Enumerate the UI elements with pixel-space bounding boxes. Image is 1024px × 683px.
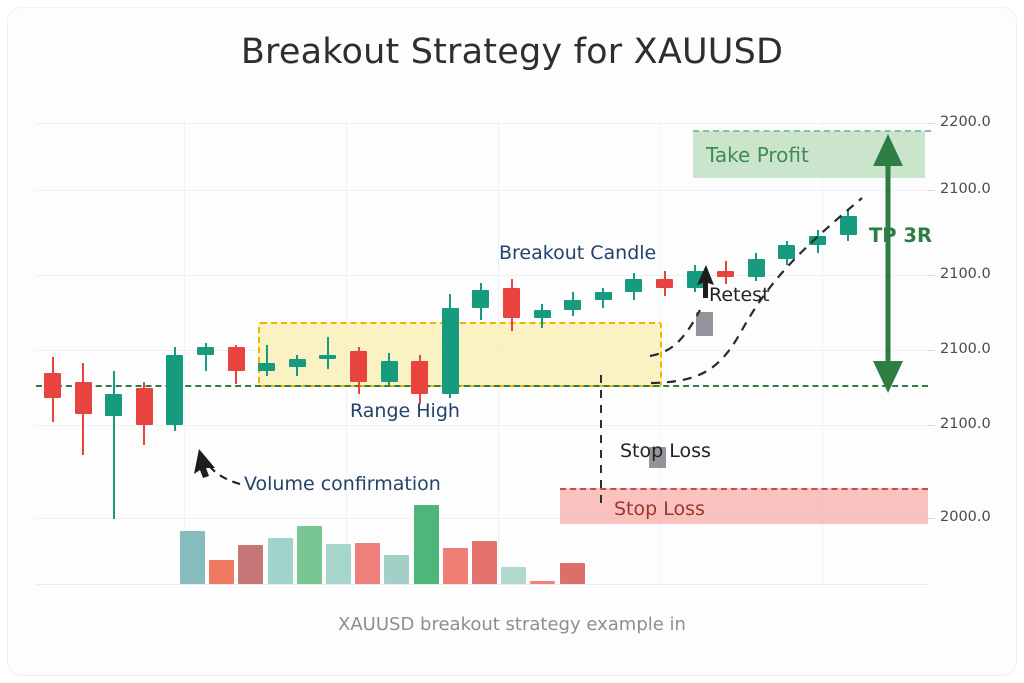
volume-bar xyxy=(180,531,205,584)
volume-bar xyxy=(209,560,234,584)
candle-body-neutral xyxy=(696,312,713,336)
volume-bar xyxy=(268,538,293,584)
candle-body xyxy=(717,271,734,277)
y-axis-tick xyxy=(928,123,935,124)
volume-bar xyxy=(297,526,322,584)
candle-body xyxy=(595,292,612,300)
candle-wick xyxy=(327,337,329,368)
candle-body xyxy=(656,279,673,289)
retest-label: Retest xyxy=(709,284,770,306)
candle-body xyxy=(75,382,92,413)
candle-body xyxy=(289,359,306,367)
y-axis-label: 2100.0 xyxy=(940,341,991,357)
gridline xyxy=(36,425,928,426)
volume-bar xyxy=(443,548,468,584)
volume-bar xyxy=(238,545,263,584)
candle-body xyxy=(381,361,398,383)
y-axis-tick xyxy=(928,350,935,351)
tp-3r-label: TP 3R xyxy=(869,224,932,247)
candle-body xyxy=(687,271,704,289)
candle-body xyxy=(778,245,795,259)
y-axis-label: 2200.0 xyxy=(940,114,991,130)
range-high-label: Range High xyxy=(350,400,460,422)
candle-body xyxy=(319,355,336,359)
candle-body xyxy=(136,388,153,425)
candle-body xyxy=(625,279,642,293)
candle-body xyxy=(748,259,765,277)
volume-bar xyxy=(355,543,380,584)
y-axis-tick xyxy=(928,425,935,426)
volume-plot xyxy=(36,498,928,584)
breakout-candle-label: Breakout Candle xyxy=(499,242,656,264)
take-profit-label: Take Profit xyxy=(706,143,809,167)
candle-body xyxy=(442,308,459,394)
stop-loss-line xyxy=(560,488,928,490)
candle-body xyxy=(350,351,367,382)
y-axis-label: 2100.0 xyxy=(940,416,991,432)
y-axis-label: 2100.0 xyxy=(940,181,991,197)
candle-wick xyxy=(266,345,268,376)
volume-bar xyxy=(560,563,585,584)
y-axis-tick xyxy=(928,190,935,191)
candle-body xyxy=(44,373,61,398)
gridline xyxy=(36,190,928,191)
candle-body xyxy=(105,394,122,416)
candle-body xyxy=(472,290,489,308)
volume-bar xyxy=(384,555,409,584)
take-profit-line xyxy=(693,130,931,132)
candle-body xyxy=(258,363,275,371)
candle-body xyxy=(564,300,581,310)
chart-screenshot: Breakout Strategy for XAUUSD Take Profit… xyxy=(0,0,1024,683)
candle-body xyxy=(809,236,826,246)
volume-bar xyxy=(414,505,439,584)
candle-body xyxy=(197,347,214,355)
candle-body xyxy=(503,288,520,317)
x-axis-baseline xyxy=(36,584,928,585)
candle-body xyxy=(166,355,183,426)
volume-bar xyxy=(472,541,497,584)
candle-body xyxy=(840,216,857,236)
volume-bar xyxy=(326,544,351,584)
y-axis-tick xyxy=(928,518,935,519)
volume-bar xyxy=(501,567,526,584)
volume-confirmation-label: Volume confirmation xyxy=(244,473,441,495)
candle-body xyxy=(228,347,245,371)
page-title: Breakout Strategy for XAUUSD xyxy=(0,32,1024,72)
candle-body xyxy=(534,310,551,318)
y-axis-label: 2100.0 xyxy=(940,266,991,282)
gridline xyxy=(36,123,928,124)
figure-caption: XAUUSD breakout strategy example in xyxy=(0,614,1024,635)
y-axis-tick xyxy=(928,275,935,276)
gridline xyxy=(36,275,928,276)
candle-body xyxy=(411,361,428,394)
y-axis-label: 2000.0 xyxy=(940,509,991,525)
stop-loss-note-label: Stop Loss xyxy=(620,440,711,462)
